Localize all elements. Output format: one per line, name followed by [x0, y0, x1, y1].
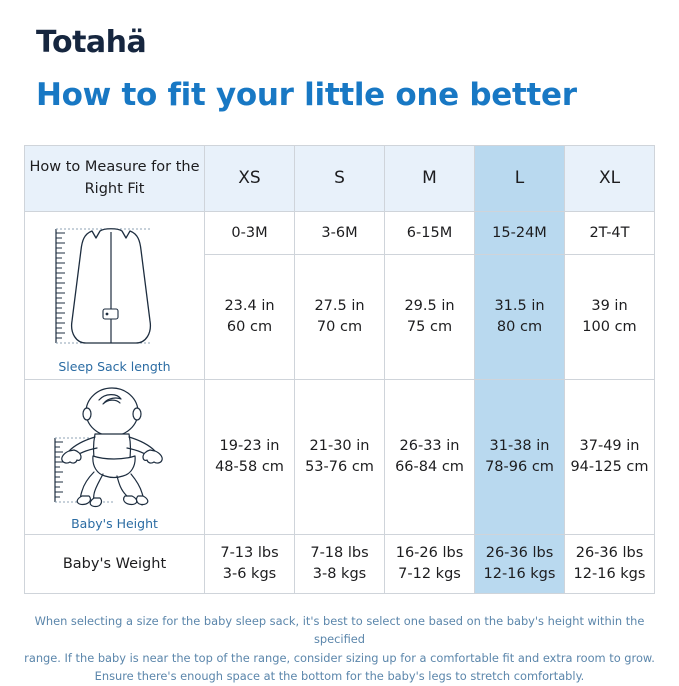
cell-height-m-in: 26-33 in: [385, 436, 474, 457]
cell-length-s: 27.5 in 70 cm: [295, 255, 385, 380]
cell-length-xl-in: 39 in: [565, 296, 654, 317]
cell-height-xl-cm: 94-125 cm: [565, 457, 654, 478]
cell-weight-s-lbs: 7-18 lbs: [295, 543, 384, 564]
cell-height-xs: 19-23 in 48-58 cm: [205, 380, 295, 535]
cell-weight-xl-kgs: 12-16 kgs: [565, 564, 654, 585]
cell-length-xs: 23.4 in 60 cm: [205, 255, 295, 380]
cell-weight-l-lbs: 26-36 lbs: [475, 543, 564, 564]
cell-length-m-in: 29.5 in: [385, 296, 474, 317]
header-size-s[interactable]: S: [295, 146, 385, 212]
footer-line-3: Ensure there's enough space at the botto…: [24, 667, 655, 685]
size-chart-container: How to Measure for the Right Fit XS S M …: [24, 145, 655, 593]
cell-weight-xs-kgs: 3-6 kgs: [205, 564, 294, 585]
cell-age-xs: 0-3M: [205, 212, 295, 255]
cell-height-xs-in: 19-23 in: [205, 436, 294, 457]
cell-weight-xs: 7-13 lbs 3-6 kgs: [205, 535, 295, 594]
size-chart-table: How to Measure for the Right Fit XS S M …: [24, 145, 655, 594]
cell-weight-l: 26-36 lbs 12-16 kgs: [475, 535, 565, 594]
cell-height-s-cm: 53-76 cm: [295, 457, 384, 478]
header-measure-label: How to Measure for the Right Fit: [25, 146, 205, 212]
footer-line-2: range. If the baby is near the top of th…: [24, 649, 655, 667]
table-row-baby-height: Baby's Height 19-23 in 48-58 cm 21-30 in…: [25, 380, 655, 535]
baby-illustration: [37, 384, 192, 514]
footer-line-1: When selecting a size for the baby sleep…: [24, 612, 655, 649]
cell-length-l-in: 31.5 in: [475, 296, 564, 317]
sleep-sack-caption: Sleep Sack length: [58, 359, 170, 374]
cell-height-xl: 37-49 in 94-125 cm: [565, 380, 655, 535]
cell-age-l: 15-24M: [475, 212, 565, 255]
cell-height-l: 31-38 in 78-96 cm: [475, 380, 565, 535]
cell-height-xs-cm: 48-58 cm: [205, 457, 294, 478]
header-label-line1: How to Measure for: [30, 159, 172, 175]
cell-sleep-sack-illustration: Sleep Sack length: [25, 212, 205, 380]
cell-height-m: 26-33 in 66-84 cm: [385, 380, 475, 535]
brand-logo: Totahä: [36, 28, 146, 58]
cell-height-l-cm: 78-96 cm: [475, 457, 564, 478]
cell-weight-m: 16-26 lbs 7-12 kgs: [385, 535, 475, 594]
table-row-age: Sleep Sack length 0-3M 3-6M 6-15M 15-24M…: [25, 212, 655, 255]
cell-baby-illustration: Baby's Height: [25, 380, 205, 535]
cell-weight-l-kgs: 12-16 kgs: [475, 564, 564, 585]
cell-weight-s-kgs: 3-8 kgs: [295, 564, 384, 585]
cell-height-m-cm: 66-84 cm: [385, 457, 474, 478]
cell-height-xl-in: 37-49 in: [565, 436, 654, 457]
cell-length-m-cm: 75 cm: [385, 317, 474, 338]
cell-age-xl: 2T-4T: [565, 212, 655, 255]
cell-weight-s: 7-18 lbs 3-8 kgs: [295, 535, 385, 594]
footer-note: When selecting a size for the baby sleep…: [24, 612, 655, 686]
cell-length-xl-cm: 100 cm: [565, 317, 654, 338]
header-size-xs[interactable]: XS: [205, 146, 295, 212]
cell-length-m: 29.5 in 75 cm: [385, 255, 475, 380]
cell-weight-xl-lbs: 26-36 lbs: [565, 543, 654, 564]
baby-height-caption: Baby's Height: [71, 516, 158, 531]
cell-length-s-cm: 70 cm: [295, 317, 384, 338]
size-guide-page: Totahä How to fit your little one better…: [0, 0, 679, 679]
table-header-row: How to Measure for the Right Fit XS S M …: [25, 146, 655, 212]
cell-height-s-in: 21-30 in: [295, 436, 384, 457]
cell-age-m: 6-15M: [385, 212, 475, 255]
cell-weight-m-kgs: 7-12 kgs: [385, 564, 474, 585]
cell-length-s-in: 27.5 in: [295, 296, 384, 317]
cell-length-l-cm: 80 cm: [475, 317, 564, 338]
cell-weight-xl: 26-36 lbs 12-16 kgs: [565, 535, 655, 594]
cell-baby-weight-label: Baby's Weight: [25, 535, 205, 594]
cell-length-xs-cm: 60 cm: [205, 317, 294, 338]
cell-height-s: 21-30 in 53-76 cm: [295, 380, 385, 535]
cell-length-xl: 39 in 100 cm: [565, 255, 655, 380]
cell-age-s: 3-6M: [295, 212, 385, 255]
cell-weight-m-lbs: 16-26 lbs: [385, 543, 474, 564]
cell-length-xs-in: 23.4 in: [205, 296, 294, 317]
sleep-sack-illustration: [40, 217, 190, 357]
table-row-baby-weight: Baby's Weight 7-13 lbs 3-6 kgs 7-18 lbs …: [25, 535, 655, 594]
header-size-l[interactable]: L: [475, 146, 565, 212]
header-size-xl[interactable]: XL: [565, 146, 655, 212]
page-title: How to fit your little one better: [36, 76, 577, 115]
cell-height-l-in: 31-38 in: [475, 436, 564, 457]
cell-length-l: 31.5 in 80 cm: [475, 255, 565, 380]
cell-weight-xs-lbs: 7-13 lbs: [205, 543, 294, 564]
header-size-m[interactable]: M: [385, 146, 475, 212]
